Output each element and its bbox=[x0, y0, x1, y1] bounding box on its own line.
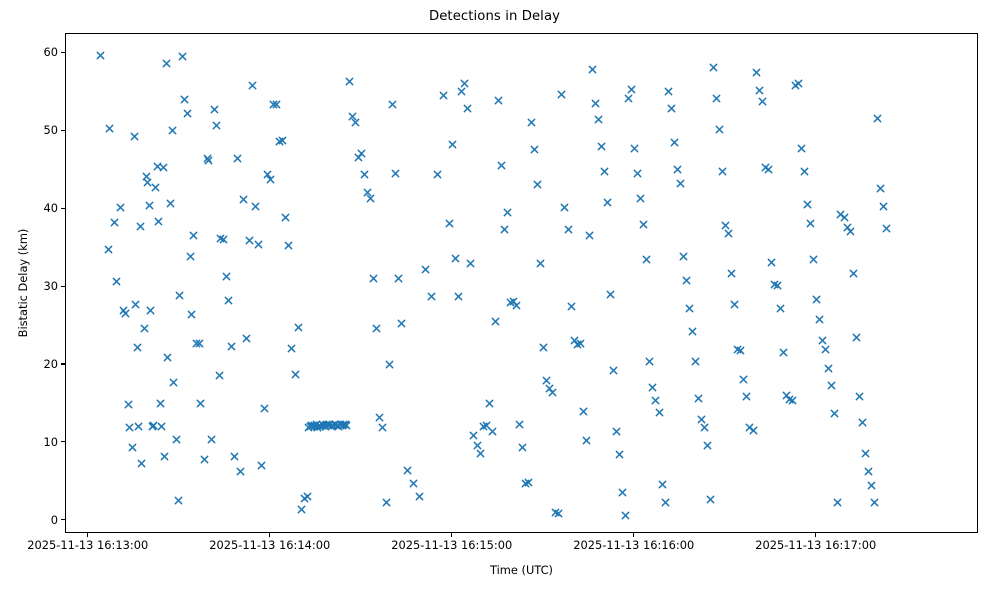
scatter-point bbox=[207, 435, 216, 444]
scatter-point bbox=[512, 301, 521, 310]
scatter-point bbox=[821, 345, 830, 354]
scatter-point bbox=[166, 199, 175, 208]
scatter-point bbox=[648, 383, 657, 392]
scatter-point bbox=[488, 427, 497, 436]
scatter-point bbox=[294, 323, 303, 332]
scatter-point bbox=[116, 203, 125, 212]
scatter-point bbox=[718, 167, 727, 176]
scatter-point bbox=[175, 291, 184, 300]
scatter-point bbox=[742, 392, 751, 401]
y-axis-label: Bistatic Delay (km) bbox=[16, 33, 30, 533]
scatter-point bbox=[600, 167, 609, 176]
y-tick-mark bbox=[61, 208, 65, 209]
scatter-point bbox=[233, 154, 242, 163]
scatter-point bbox=[163, 353, 172, 362]
scatter-point bbox=[121, 309, 130, 318]
scatter-point bbox=[319, 421, 328, 430]
plot-axes-area bbox=[65, 33, 978, 533]
scatter-point bbox=[882, 224, 891, 233]
scatter-point bbox=[245, 236, 254, 245]
scatter-point bbox=[445, 219, 454, 228]
scatter-point bbox=[336, 420, 345, 429]
scatter-point bbox=[840, 213, 849, 222]
scatter-point bbox=[879, 202, 888, 211]
scatter-point bbox=[242, 334, 251, 343]
x-tick-mark bbox=[815, 533, 816, 537]
scatter-point bbox=[324, 421, 333, 430]
x-axis-label: Time (UTC) bbox=[65, 563, 978, 577]
scatter-point bbox=[369, 274, 378, 283]
scatter-point bbox=[830, 409, 839, 418]
scatter-point bbox=[310, 421, 319, 430]
scatter-point bbox=[363, 188, 372, 197]
scatter-point bbox=[195, 339, 204, 348]
scatter-point bbox=[873, 114, 882, 123]
scatter-point bbox=[278, 136, 287, 145]
y-tick-label: 0 bbox=[3, 513, 58, 527]
scatter-point bbox=[855, 392, 864, 401]
y-tick-mark bbox=[61, 286, 65, 287]
scatter-point bbox=[579, 407, 588, 416]
scatter-point bbox=[776, 304, 785, 313]
scatter-point bbox=[846, 227, 855, 236]
chart-title: Detections in Delay bbox=[0, 9, 989, 24]
scatter-point bbox=[576, 339, 585, 348]
scatter-point bbox=[168, 126, 177, 135]
scatter-point bbox=[688, 327, 697, 336]
scatter-point bbox=[767, 258, 776, 267]
scatter-point bbox=[131, 300, 140, 309]
scatter-point bbox=[196, 399, 205, 408]
scatter-point bbox=[691, 357, 700, 366]
scatter-point bbox=[752, 68, 761, 77]
scatter-point bbox=[642, 255, 651, 264]
scatter-point bbox=[284, 241, 293, 250]
scatter-point bbox=[222, 272, 231, 281]
scatter-point bbox=[739, 375, 748, 384]
scatter-point bbox=[385, 360, 394, 369]
scatter-point bbox=[357, 149, 366, 158]
scatter-point bbox=[318, 420, 327, 429]
y-tick-mark bbox=[61, 363, 65, 364]
scatter-point bbox=[636, 194, 645, 203]
scatter-point bbox=[366, 194, 375, 203]
scatter-point bbox=[779, 348, 788, 357]
scatter-point bbox=[312, 420, 321, 429]
scatter-point bbox=[130, 132, 139, 141]
scatter-point bbox=[331, 420, 340, 429]
scatter-point bbox=[770, 280, 779, 289]
scatter-point bbox=[849, 269, 858, 278]
scatter-point bbox=[378, 423, 387, 432]
scatter-point bbox=[227, 342, 236, 351]
scatter-point bbox=[112, 277, 121, 286]
scatter-point bbox=[210, 105, 219, 114]
scatter-point bbox=[157, 422, 166, 431]
scatter-point bbox=[187, 310, 196, 319]
scatter-point bbox=[567, 302, 576, 311]
scatter-point bbox=[291, 370, 300, 379]
y-tick-mark bbox=[61, 130, 65, 131]
y-tick-mark bbox=[61, 519, 65, 520]
scatter-point bbox=[700, 423, 709, 432]
scatter-point bbox=[673, 165, 682, 174]
scatter-point bbox=[651, 396, 660, 405]
scatter-point bbox=[360, 170, 369, 179]
scatter-point bbox=[539, 343, 548, 352]
scatter-point bbox=[679, 252, 688, 261]
scatter-point bbox=[204, 156, 213, 165]
scatter-point bbox=[733, 345, 742, 354]
scatter-point bbox=[174, 496, 183, 505]
scatter-point bbox=[339, 420, 348, 429]
scatter-point bbox=[697, 415, 706, 424]
scatter-point bbox=[858, 418, 867, 427]
scatter-point bbox=[239, 195, 248, 204]
x-tick-mark bbox=[269, 533, 270, 537]
scatter-point bbox=[297, 505, 306, 514]
scatter-point bbox=[827, 381, 836, 390]
scatter-point bbox=[676, 179, 685, 188]
scatter-point bbox=[755, 86, 764, 95]
scatter-point bbox=[639, 220, 648, 229]
scatter-point bbox=[321, 422, 330, 431]
scatter-point bbox=[764, 165, 773, 174]
scatter-point bbox=[612, 427, 621, 436]
scatter-point bbox=[327, 422, 336, 431]
scatter-point bbox=[585, 231, 594, 240]
scatter-point bbox=[727, 269, 736, 278]
scatter-point bbox=[388, 100, 397, 109]
scatter-point bbox=[322, 420, 331, 429]
scatter-point bbox=[609, 366, 618, 375]
scatter-point bbox=[791, 81, 800, 90]
scatter-point bbox=[219, 235, 228, 244]
y-tick-label: 20 bbox=[3, 357, 58, 371]
scatter-point bbox=[192, 339, 201, 348]
y-tick-label: 50 bbox=[3, 123, 58, 137]
scatter-point bbox=[876, 184, 885, 193]
scatter-point bbox=[272, 100, 281, 109]
scatter-point bbox=[685, 304, 694, 313]
scatter-point bbox=[597, 142, 606, 151]
scatter-point bbox=[451, 254, 460, 263]
scatter-point bbox=[304, 423, 313, 432]
scatter-point bbox=[330, 420, 339, 429]
scatter-point bbox=[300, 494, 309, 503]
scatter-point bbox=[260, 404, 269, 413]
scatter-point bbox=[469, 431, 478, 440]
scatter-point bbox=[773, 281, 782, 290]
scatter-point bbox=[236, 467, 245, 476]
scatter-point bbox=[551, 508, 560, 517]
scatter-point bbox=[867, 481, 876, 490]
scatter-point bbox=[105, 124, 114, 133]
scatter-point bbox=[797, 144, 806, 153]
scatter-point bbox=[148, 422, 157, 431]
scatter-point bbox=[560, 203, 569, 212]
scatter-point bbox=[721, 221, 730, 230]
scatter-point bbox=[325, 420, 334, 429]
scatter-point bbox=[110, 218, 119, 227]
scatter-point bbox=[591, 99, 600, 108]
scatter-point bbox=[803, 200, 812, 209]
scatter-point bbox=[391, 169, 400, 178]
scatter-point bbox=[527, 118, 536, 127]
scatter-point bbox=[328, 421, 337, 430]
scatter-point bbox=[466, 259, 475, 268]
scatter-point bbox=[151, 183, 160, 192]
scatter-point bbox=[140, 324, 149, 333]
scatter-point bbox=[724, 229, 733, 238]
scatter-point bbox=[186, 252, 195, 261]
scatter-point bbox=[627, 85, 636, 94]
y-tick-label: 40 bbox=[3, 201, 58, 215]
scatter-point bbox=[491, 317, 500, 326]
scatter-point bbox=[143, 178, 152, 187]
scatter-point bbox=[403, 466, 412, 475]
scatter-point bbox=[275, 137, 284, 146]
scatter-point bbox=[542, 376, 551, 385]
scatter-point bbox=[524, 478, 533, 487]
scatter-point bbox=[703, 441, 712, 450]
scatter-point bbox=[159, 163, 168, 172]
scatter-point bbox=[269, 100, 278, 109]
scatter-point bbox=[536, 259, 545, 268]
scatter-point bbox=[785, 395, 794, 404]
scatter-point bbox=[645, 357, 654, 366]
scatter-point bbox=[254, 240, 263, 249]
x-tick-mark bbox=[633, 533, 634, 537]
scatter-point bbox=[333, 421, 342, 430]
scatter-point bbox=[806, 219, 815, 228]
scatter-point bbox=[457, 87, 466, 96]
scatter-point bbox=[497, 161, 506, 170]
scatter-point bbox=[178, 52, 187, 61]
scatter-point bbox=[603, 198, 612, 207]
scatter-point bbox=[189, 231, 198, 240]
scatter-point bbox=[709, 63, 718, 72]
y-tick-mark bbox=[61, 52, 65, 53]
scatter-point bbox=[485, 399, 494, 408]
scatter-point bbox=[454, 292, 463, 301]
scatter-point bbox=[172, 435, 181, 444]
scatter-point bbox=[812, 295, 821, 304]
scatter-point bbox=[334, 422, 343, 431]
scatter-point bbox=[715, 125, 724, 134]
scatter-point bbox=[736, 346, 745, 355]
scatter-point bbox=[861, 449, 870, 458]
scatter-point bbox=[153, 162, 162, 171]
scatter-point bbox=[316, 422, 325, 431]
scatter-point bbox=[670, 138, 679, 147]
scatter-point bbox=[149, 421, 158, 430]
scatter-point bbox=[125, 423, 134, 432]
matplotlib-figure: Detections in Delay 0102030405060 Bistat… bbox=[0, 0, 989, 590]
scatter-point bbox=[782, 391, 791, 400]
scatter-point bbox=[281, 213, 290, 222]
scatter-point bbox=[307, 421, 316, 430]
scatter-point bbox=[864, 467, 873, 476]
scatter-point bbox=[303, 492, 312, 501]
scatter-point bbox=[287, 344, 296, 353]
scatter-point bbox=[843, 223, 852, 232]
scatter-point bbox=[573, 340, 582, 349]
scatter-point bbox=[96, 51, 105, 60]
scatter-point bbox=[216, 234, 225, 243]
scatter-point bbox=[682, 276, 691, 285]
y-tick-label: 10 bbox=[3, 435, 58, 449]
scatter-point bbox=[818, 336, 827, 345]
scatter-point bbox=[594, 115, 603, 124]
scatter-point bbox=[448, 140, 457, 149]
x-tick-mark bbox=[87, 533, 88, 537]
scatter-point bbox=[794, 79, 803, 88]
scatter-point bbox=[554, 509, 563, 518]
scatter-point bbox=[521, 479, 530, 488]
scatter-point bbox=[482, 421, 491, 430]
scatter-point bbox=[624, 94, 633, 103]
scatter-point bbox=[460, 79, 469, 88]
scatter-point bbox=[142, 172, 151, 181]
scatter-point bbox=[180, 95, 189, 104]
scatter-point bbox=[266, 175, 275, 184]
scatter-point bbox=[518, 443, 527, 452]
scatter-point bbox=[570, 336, 579, 345]
scatter-point bbox=[251, 202, 260, 211]
scatter-point bbox=[248, 81, 257, 90]
scatter-point bbox=[712, 94, 721, 103]
scatter-point bbox=[124, 400, 133, 409]
scatter-point bbox=[137, 459, 146, 468]
scatter-point bbox=[815, 315, 824, 324]
scatter-point bbox=[749, 426, 758, 435]
scatter-point bbox=[533, 180, 542, 189]
y-tick-mark bbox=[61, 441, 65, 442]
scatter-point bbox=[852, 333, 861, 342]
scatter-point bbox=[506, 298, 515, 307]
x-tick-label: 2025-11-13 16:17:00 bbox=[706, 538, 926, 552]
scatter-point bbox=[427, 292, 436, 301]
y-tick-label: 60 bbox=[3, 45, 58, 59]
scatter-point bbox=[433, 170, 442, 179]
scatter-point bbox=[557, 90, 566, 99]
scatter-point bbox=[606, 290, 615, 299]
scatter-point bbox=[375, 413, 384, 422]
scatter-point bbox=[658, 480, 667, 489]
scatter-point bbox=[415, 492, 424, 501]
scatter-point bbox=[160, 452, 169, 461]
scatter-point bbox=[833, 498, 842, 507]
scatter-point bbox=[500, 225, 509, 234]
scatter-point bbox=[200, 455, 209, 464]
scatter-point bbox=[156, 399, 165, 408]
x-tick-mark bbox=[451, 533, 452, 537]
scatter-point bbox=[615, 450, 624, 459]
scatter-point bbox=[162, 59, 171, 68]
scatter-point bbox=[479, 422, 488, 431]
scatter-point bbox=[257, 461, 266, 470]
scatter-point bbox=[706, 495, 715, 504]
scatter-point bbox=[145, 201, 154, 210]
scatter-point bbox=[154, 217, 163, 226]
scatter-point bbox=[745, 423, 754, 432]
scatter-point bbox=[667, 104, 676, 113]
scatter-point bbox=[824, 364, 833, 373]
scatter-point bbox=[351, 118, 360, 127]
scatter-point bbox=[146, 306, 155, 315]
scatter-point bbox=[341, 420, 350, 429]
scatter-point bbox=[515, 420, 524, 429]
scatter-point bbox=[758, 97, 767, 106]
scatter-point bbox=[313, 423, 322, 432]
y-tick-label: 30 bbox=[3, 279, 58, 293]
scatter-point bbox=[630, 144, 639, 153]
scatter-point bbox=[503, 208, 512, 217]
scatter-point bbox=[564, 225, 573, 234]
scatter-point bbox=[694, 394, 703, 403]
scatter-point bbox=[588, 65, 597, 74]
scatter-points-layer bbox=[66, 34, 977, 532]
scatter-point bbox=[224, 296, 233, 305]
scatter-point bbox=[134, 422, 143, 431]
scatter-point bbox=[394, 274, 403, 283]
scatter-point bbox=[664, 87, 673, 96]
scatter-point bbox=[382, 498, 391, 507]
scatter-point bbox=[397, 319, 406, 328]
scatter-point bbox=[169, 378, 178, 387]
scatter-point bbox=[263, 170, 272, 179]
scatter-point bbox=[463, 104, 472, 113]
scatter-point bbox=[119, 306, 128, 315]
scatter-point bbox=[800, 167, 809, 176]
scatter-point bbox=[348, 112, 357, 121]
scatter-point bbox=[545, 384, 554, 393]
scatter-point bbox=[128, 443, 137, 452]
scatter-point bbox=[203, 154, 212, 163]
scatter-point bbox=[345, 77, 354, 86]
scatter-point bbox=[809, 255, 818, 264]
scatter-point bbox=[421, 265, 430, 274]
scatter-point bbox=[473, 441, 482, 450]
scatter-point bbox=[530, 145, 539, 154]
scatter-point bbox=[582, 436, 591, 445]
scatter-point bbox=[342, 421, 351, 430]
scatter-point bbox=[494, 96, 503, 105]
scatter-point bbox=[439, 91, 448, 100]
scatter-point bbox=[836, 210, 845, 219]
scatter-point bbox=[730, 300, 739, 309]
scatter-point bbox=[509, 297, 518, 306]
scatter-point bbox=[633, 169, 642, 178]
scatter-point bbox=[215, 371, 224, 380]
scatter-point bbox=[306, 422, 315, 431]
scatter-point bbox=[133, 343, 142, 352]
scatter-point bbox=[230, 452, 239, 461]
scatter-point bbox=[618, 488, 627, 497]
scatter-point bbox=[409, 479, 418, 488]
scatter-point bbox=[309, 422, 318, 431]
scatter-point bbox=[104, 245, 113, 254]
scatter-point bbox=[870, 498, 879, 507]
scatter-point bbox=[136, 222, 145, 231]
scatter-point bbox=[761, 163, 770, 172]
scatter-point bbox=[212, 121, 221, 130]
scatter-point bbox=[661, 498, 670, 507]
scatter-point bbox=[788, 396, 797, 405]
scatter-point bbox=[354, 153, 363, 162]
scatter-point bbox=[183, 109, 192, 118]
